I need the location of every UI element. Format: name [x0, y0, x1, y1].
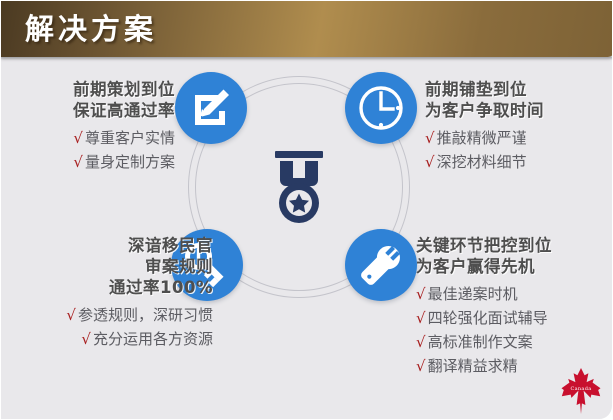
quadrant-list: √推敲精微严谨 √深挖材料细节: [425, 126, 605, 174]
list-item: √尊重客户实情: [27, 126, 175, 150]
quadrant-title-line: 关键环节把控到位: [416, 235, 606, 256]
quadrant-title: 关键环节把控到位 为客户赢得先机: [416, 235, 606, 277]
list-item-label: 推敲精微严谨: [437, 129, 527, 147]
quadrant-list: √最佳递案时机 √四轮强化面试辅导 √高标准制作文案 √翻译精益求精: [416, 282, 606, 378]
check-icon: √: [73, 129, 83, 147]
list-item-label: 深挖材料细节: [437, 153, 527, 171]
list-item-label: 翻译精益求精: [428, 357, 518, 375]
list-item: √量身定制方案: [27, 150, 175, 174]
quadrant-title-line: 为客户争取时间: [425, 100, 605, 121]
list-item: √最佳递案时机: [416, 282, 606, 306]
quadrant-title-line: 前期策划到位: [27, 79, 175, 100]
clock-icon[interactable]: [345, 72, 417, 144]
quadrant-title-line: 为客户赢得先机: [416, 256, 606, 277]
quadrant-top-left: 前期策划到位 保证高通过率 √尊重客户实情 √量身定制方案: [27, 79, 175, 174]
quadrant-bottom-left: 深谙移民官 审案规则 通过率100% √参透规则，深研习惯 √充分运用各方资源: [27, 235, 213, 351]
list-item-label: 参透规则，深研习惯: [78, 306, 213, 324]
quadrant-title: 深谙移民官 审案规则 通过率100%: [27, 235, 213, 298]
quadrant-title-line: 深谙移民官: [27, 235, 213, 256]
list-item: √参透规则，深研习惯: [27, 303, 213, 327]
check-icon: √: [425, 129, 435, 147]
check-icon: √: [416, 285, 426, 303]
check-icon: √: [73, 153, 83, 171]
header-underline: [1, 57, 613, 60]
list-item-label: 四轮强化面试辅导: [428, 309, 548, 327]
check-icon: √: [425, 153, 435, 171]
medal-icon: [269, 151, 329, 225]
list-item: √深挖材料细节: [425, 150, 605, 174]
quadrant-title-line: 通过率100%: [27, 277, 213, 298]
list-item: √推敲精微严谨: [425, 126, 605, 150]
list-item: √充分运用各方资源: [27, 327, 213, 351]
check-icon: √: [81, 330, 91, 348]
quadrant-list: √尊重客户实情 √量身定制方案: [27, 126, 175, 174]
list-item-label: 充分运用各方资源: [93, 330, 213, 348]
list-item: √四轮强化面试辅导: [416, 306, 606, 330]
quadrant-top-right: 前期铺垫到位 为客户争取时间 √推敲精微严谨 √深挖材料细节: [425, 79, 605, 174]
check-icon: √: [416, 333, 426, 351]
check-icon: √: [66, 306, 76, 324]
list-item-label: 量身定制方案: [85, 153, 175, 171]
quadrant-title-line: 前期铺垫到位: [425, 79, 605, 100]
list-item: √高标准制作文案: [416, 330, 606, 354]
quadrant-bottom-right: 关键环节把控到位 为客户赢得先机 √最佳递案时机 √四轮强化面试辅导 √高标准制…: [416, 235, 606, 378]
quadrant-title-line: 审案规则: [27, 256, 213, 277]
check-icon: √: [416, 357, 426, 375]
slide-canvas: 解决方案: [0, 0, 613, 420]
list-item-label: 高标准制作文案: [428, 333, 533, 351]
quadrant-title: 前期铺垫到位 为客户争取时间: [425, 79, 605, 121]
check-icon: √: [416, 309, 426, 327]
quadrant-title: 前期策划到位 保证高通过率: [27, 79, 175, 121]
canada-wordmark: Canada: [567, 386, 595, 392]
quadrant-title-line: 保证高通过率: [27, 100, 175, 121]
page-title: 解决方案: [25, 6, 157, 48]
list-item-label: 最佳递案时机: [428, 285, 518, 303]
list-item-label: 尊重客户实情: [85, 129, 175, 147]
quadrant-list: √参透规则，深研习惯 √充分运用各方资源: [27, 303, 213, 351]
wrench-icon[interactable]: [345, 229, 417, 301]
edit-pencil-icon[interactable]: [175, 72, 247, 144]
